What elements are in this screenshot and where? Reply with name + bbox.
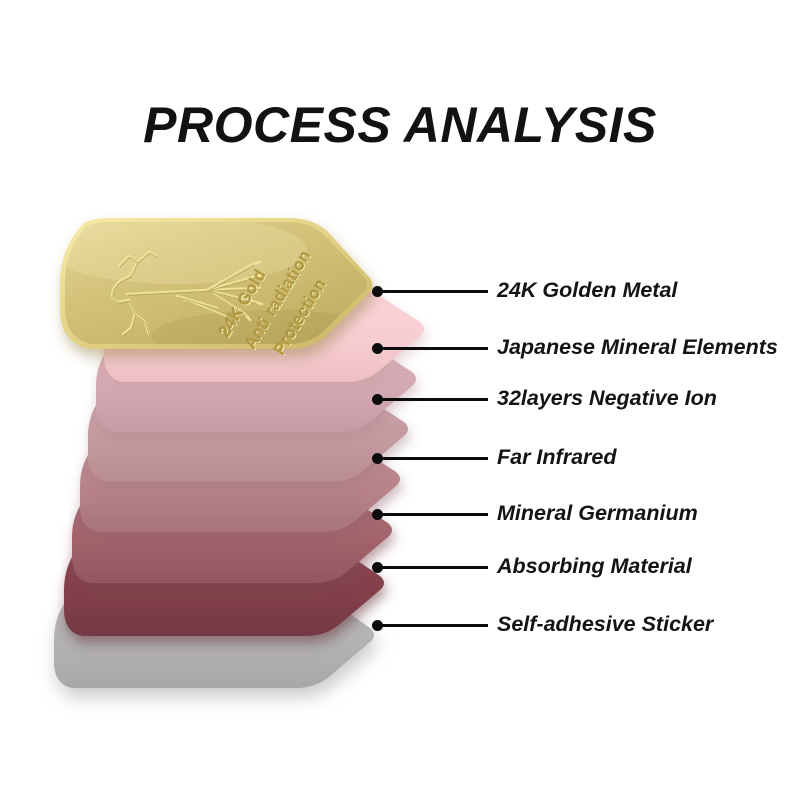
callout-label: Japanese Mineral Elements <box>497 337 778 359</box>
leader-line <box>382 566 488 569</box>
callout-japanese-mineral-elements[interactable]: Japanese Mineral Elements <box>372 336 778 360</box>
leader-line <box>382 624 488 627</box>
callout-label: Far Infrared <box>497 447 616 469</box>
layer-24k-golden-metal[interactable] <box>57 216 377 364</box>
callout-label: Mineral Germanium <box>497 503 698 525</box>
leader-line <box>382 347 488 350</box>
leader-line <box>382 290 488 293</box>
process-analysis-infographic: PROCESS ANALYSIS <box>0 0 800 800</box>
leader-line <box>382 457 488 460</box>
callout-mineral-germanium[interactable]: Mineral Germanium <box>372 502 698 526</box>
leader-line <box>382 398 488 401</box>
callout-24k-golden-metal[interactable]: 24K Golden Metal <box>372 279 677 303</box>
leader-line <box>382 513 488 516</box>
callout-far-infrared[interactable]: Far Infrared <box>372 446 616 470</box>
callout-32layers-negative-ion[interactable]: 32layers Negative Ion <box>372 387 717 411</box>
callout-label: 32layers Negative Ion <box>497 388 717 410</box>
callout-label: Self-adhesive Sticker <box>497 614 713 636</box>
callout-label: Absorbing Material <box>497 556 692 578</box>
callout-absorbing-material[interactable]: Absorbing Material <box>372 555 692 579</box>
callout-label: 24K Golden Metal <box>497 280 677 302</box>
callout-self-adhesive-sticker[interactable]: Self-adhesive Sticker <box>372 613 713 637</box>
